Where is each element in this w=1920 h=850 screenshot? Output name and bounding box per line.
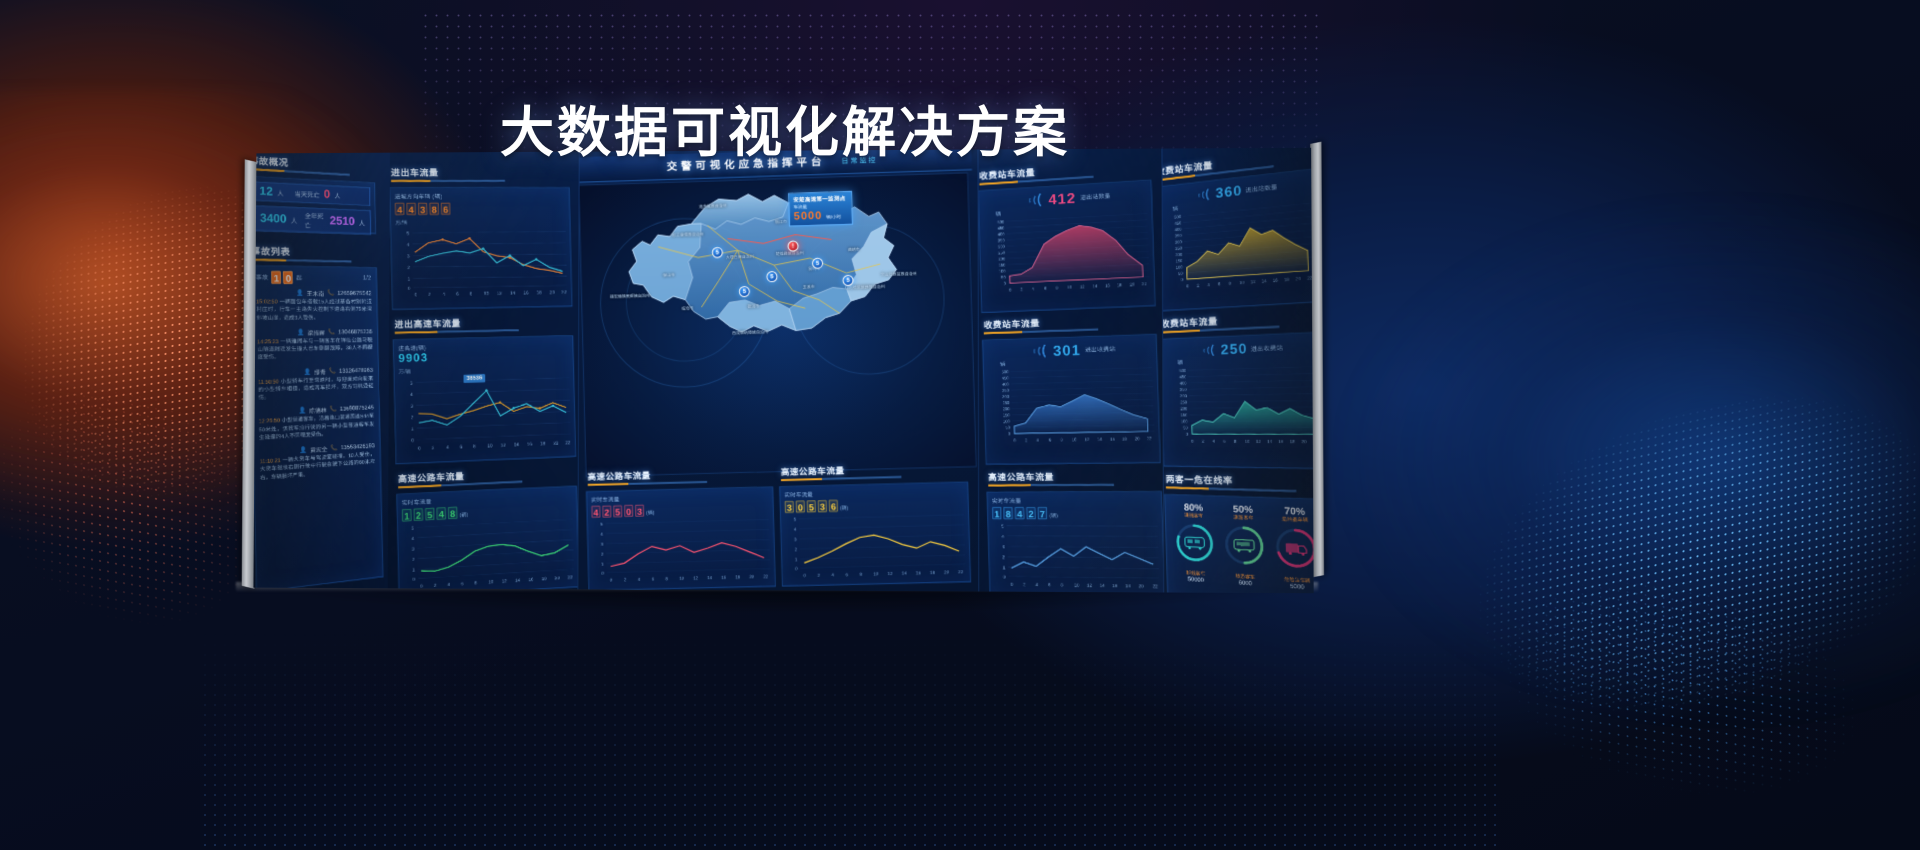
svg-text:2: 2 (1197, 283, 1200, 288)
svg-text:8: 8 (1056, 285, 1059, 290)
svg-text:16: 16 (1110, 436, 1116, 441)
accident-list-pager[interactable]: 1/2 (363, 275, 371, 281)
svg-text:6: 6 (456, 291, 459, 296)
svg-text:2: 2 (1002, 555, 1005, 560)
inout-y-unit: 万/辆 (395, 219, 407, 226)
highway-panel-3-title: 高速公路车流量 (781, 463, 902, 478)
svg-text:6: 6 (1223, 438, 1226, 443)
svg-text:50: 50 (1183, 425, 1189, 430)
svg-text:2: 2 (624, 577, 627, 582)
svg-text:4: 4 (1032, 286, 1035, 291)
svg-text:3: 3 (794, 537, 797, 542)
digit: 4 (436, 507, 446, 520)
highway-panel-4: 实时车流量 1 8 4 2 7 (辆) (987, 491, 1165, 594)
svg-text:20: 20 (1138, 583, 1144, 588)
inbound-label: 进城方向车辆 (辆) (395, 192, 565, 200)
svg-text:6: 6 (461, 581, 464, 586)
svg-text:0: 0 (418, 446, 421, 451)
toll-4-title-wrap: 收费站车流量 (1161, 311, 1280, 333)
accident-person-name: 梁振辉 (308, 328, 325, 337)
signal-wave-icon (1022, 343, 1050, 360)
accident-count-label: 事故 (256, 273, 269, 282)
svg-text:450: 450 (1174, 220, 1182, 226)
title-underline (391, 180, 505, 182)
digit: 4 (1015, 507, 1025, 519)
svg-text:20: 20 (749, 574, 755, 579)
svg-text:18: 18 (930, 570, 936, 575)
svg-text:3: 3 (1002, 544, 1005, 549)
svg-text:22: 22 (1142, 281, 1148, 286)
svg-text:450: 450 (997, 225, 1005, 230)
svg-text:20: 20 (1301, 439, 1307, 445)
bus-icon (1185, 537, 1204, 550)
svg-text:0: 0 (1181, 277, 1184, 282)
highway-panel-3-sub: 实时车流量 (784, 487, 963, 500)
svg-text:500: 500 (1179, 368, 1187, 373)
svg-text:20: 20 (555, 575, 560, 580)
year-death-unit: 人 (359, 217, 365, 227)
svg-text:16: 16 (1105, 283, 1111, 288)
map-tooltip-value: 5000 (794, 210, 823, 223)
title-underline (988, 484, 1114, 487)
svg-text:2: 2 (428, 292, 431, 297)
highway-inout-panel: 进高速(辆) 9903 万/辆 38536 (393, 335, 577, 464)
map-region-label: 普洱市 (747, 304, 759, 310)
svg-text:18: 18 (1117, 282, 1123, 287)
map-region-label: 文山壮族苗族自治州 (880, 271, 916, 278)
map-pin[interactable]: 5 (842, 275, 853, 286)
svg-text:16: 16 (1273, 277, 1279, 283)
svg-text:500: 500 (997, 219, 1005, 224)
svg-text:100: 100 (1181, 419, 1189, 424)
svg-text:2: 2 (1202, 438, 1205, 443)
svg-text:8: 8 (474, 580, 477, 585)
svg-text:50: 50 (1001, 274, 1006, 279)
highway-panel-3-unit: (辆) (840, 505, 849, 512)
wall-segment-right-inner: 收费站车流量 412 进出站数量 (978, 148, 1164, 594)
gauge-2-label: 旅游客车 (1218, 514, 1269, 523)
svg-text:300: 300 (1175, 239, 1183, 245)
inout-flow-panel: 进城方向车辆 (辆) 4 4 3 8 6 (389, 187, 572, 310)
svg-text:400: 400 (1175, 226, 1183, 232)
map-tooltip-unit: 辆/小时 (826, 214, 841, 220)
svg-text:150: 150 (1003, 412, 1011, 417)
wall-segment-left: 事故概况 12 人 当天死亡 0 人 (253, 148, 397, 594)
year-death-label: 全年死亡 (305, 211, 326, 231)
highway-panel-2-sub: 实时车流量 (591, 491, 768, 503)
svg-text:12: 12 (1087, 583, 1093, 588)
gauge-group-2: 50% 旅游客车 (1218, 503, 1271, 589)
svg-text:150: 150 (1176, 258, 1184, 264)
svg-text:300: 300 (1002, 394, 1010, 399)
accident-time: 11:50:50 (258, 378, 279, 385)
map-region-label: 保山市 (663, 272, 675, 278)
digit: 3 (818, 500, 827, 512)
svg-text:4: 4 (446, 445, 449, 450)
svg-text:350: 350 (1175, 233, 1183, 239)
svg-text:20: 20 (550, 290, 556, 295)
svg-text:0: 0 (1004, 281, 1007, 286)
svg-text:2: 2 (817, 573, 820, 578)
svg-text:1: 1 (411, 426, 414, 431)
svg-text:14: 14 (1097, 436, 1103, 441)
toll-3-value: 301 (1053, 341, 1081, 359)
svg-text:4: 4 (1002, 534, 1005, 539)
map-region-label: 德宏傣族景颇族自治州 (610, 293, 650, 300)
svg-text:8: 8 (1060, 437, 1063, 442)
digit: 2 (1026, 507, 1036, 519)
svg-text:350: 350 (1180, 387, 1188, 392)
svg-text:20: 20 (944, 570, 950, 575)
gauge-group-3: 70% 危险品车辆 (1268, 505, 1314, 593)
svg-text:8: 8 (665, 576, 668, 581)
toll-2-value: 360 (1215, 182, 1242, 201)
inout-flow-chart: 54 32 10 (395, 227, 569, 299)
svg-text:10: 10 (1239, 279, 1245, 285)
accident-person-name: 黄志全 (310, 445, 327, 455)
highway-panel-4-digits: 1 8 4 2 7 (辆) (992, 507, 1157, 520)
digit: 3 (785, 501, 794, 513)
inout-flow-title-wrap: 进出车流量 (391, 166, 505, 182)
gauge-1-ring (1173, 520, 1216, 565)
svg-text:10: 10 (489, 579, 495, 584)
svg-text:20: 20 (553, 440, 559, 445)
svg-text:2: 2 (601, 552, 604, 557)
svg-text:2: 2 (407, 265, 410, 270)
svg-text:2: 2 (1020, 287, 1023, 292)
signal-wave-icon (1189, 186, 1213, 203)
highway-panel-1-unit: (辆) (459, 511, 468, 519)
svg-text:4: 4 (447, 582, 450, 587)
svg-text:200: 200 (1180, 406, 1188, 411)
highway-panel-4-title: 高速公路车流量 (988, 470, 1114, 483)
svg-text:50: 50 (1178, 271, 1184, 277)
svg-text:22: 22 (1147, 436, 1153, 441)
svg-text:10: 10 (1067, 284, 1073, 289)
accident-body: 12:25:50 小型普通客车，沿着路口普通国道S44至50米处，该货车沿行驶的… (259, 413, 375, 442)
highway-panel-4-unit: (辆) (1049, 512, 1058, 519)
svg-text:14: 14 (1092, 283, 1098, 288)
svg-text:200: 200 (998, 256, 1006, 261)
svg-text:6: 6 (846, 572, 849, 577)
svg-text:0: 0 (412, 577, 415, 582)
stat-row-today: 12 人 当天死亡 0 人 (253, 181, 370, 206)
svg-text:250: 250 (1003, 400, 1011, 405)
svg-text:12: 12 (1256, 439, 1262, 444)
svg-text:0: 0 (411, 438, 414, 443)
accident-body: 11:50:50 小型轿车行至弯道时，与迎面对向驶来的小型轿车相撞，造成两车损坏… (258, 375, 374, 402)
accident-count-digits: 1 0 (271, 271, 293, 284)
svg-text:5: 5 (1001, 524, 1004, 529)
accident-contact: 👤 王木南 📞 12659675542 (256, 289, 371, 298)
tour-bus-icon (1234, 539, 1254, 552)
svg-text:0: 0 (1008, 431, 1011, 436)
gauge-1-count: 50000 (1172, 575, 1221, 585)
inout-flow-title: 进出车流量 (391, 166, 505, 179)
svg-text:10: 10 (1074, 582, 1080, 587)
digit: 3 (418, 203, 428, 215)
digit: 4 (395, 203, 405, 216)
svg-text:5: 5 (410, 380, 413, 385)
svg-text:250: 250 (998, 250, 1006, 255)
svg-text:10: 10 (874, 571, 880, 576)
svg-text:100: 100 (1003, 419, 1011, 424)
svg-text:4: 4 (1036, 437, 1039, 442)
person-icon: 👤 (296, 290, 303, 296)
toll-station-panel-2: 360 进出站数量 辆 (1155, 168, 1314, 311)
svg-text:22: 22 (562, 290, 568, 295)
accident-phone: 13553426193 (341, 443, 375, 451)
wall-segment-left-inner: 进出车流量 进城方向车辆 (辆) 4 4 3 (388, 148, 580, 594)
svg-text:4: 4 (410, 392, 413, 397)
svg-text:0: 0 (601, 571, 604, 576)
person-icon: 👤 (299, 408, 306, 415)
signal-wave-icon (1194, 342, 1218, 358)
highway-panel-2-chart: 543 210 024 6810 121416 182022 (592, 515, 773, 583)
digit: 1 (992, 507, 1002, 519)
accident-list-title-wrap: 事故列表 (253, 244, 351, 262)
digit: 2 (413, 508, 423, 521)
wall-segment-center: 交警可视化应急指挥平台 日常监控 (578, 150, 979, 592)
svg-text:12: 12 (497, 291, 503, 296)
list-item[interactable]: 👤 陈德林 📞 13690875245 12:25:50 小型普通客车，沿着路口… (259, 404, 375, 443)
svg-text:18: 18 (1125, 583, 1131, 588)
list-item[interactable]: 👤 黄志全 📞 13553426193 11:10:21 一辆大货车与驾驶室碰撞… (259, 442, 375, 483)
svg-text:12: 12 (1080, 284, 1086, 289)
svg-text:4: 4 (1207, 282, 1210, 287)
digit: 4 (591, 506, 600, 518)
svg-text:20: 20 (1130, 282, 1136, 287)
svg-text:4: 4 (1212, 438, 1215, 443)
today-injured-value: 12 (259, 185, 273, 199)
list-item[interactable]: 👤 梁振辉 📞 13046875236 14:25:23 一辆雅阁车与一辆客车在… (257, 328, 373, 363)
highway-panel-4-title-wrap: 高速公路车流量 (988, 470, 1114, 486)
svg-text:4: 4 (638, 577, 641, 582)
svg-text:1: 1 (408, 276, 411, 281)
digit: 4 (406, 203, 416, 215)
accident-count-unit: 起 (296, 273, 302, 282)
svg-text:14: 14 (510, 290, 516, 295)
svg-text:5: 5 (406, 231, 409, 236)
highway-tooltip: 38536 (463, 374, 485, 383)
digit: 1 (271, 271, 281, 284)
svg-text:12: 12 (502, 578, 508, 583)
map-tooltip: 安楚高速第一监测点 车流量 5000 辆/小时 (788, 191, 853, 227)
svg-text:14: 14 (1262, 278, 1268, 284)
svg-text:450: 450 (1179, 374, 1187, 379)
svg-text:10: 10 (487, 443, 493, 448)
online-rate-panel: 80% 班线客车 (1164, 494, 1314, 594)
svg-text:3: 3 (601, 542, 604, 547)
svg-text:5: 5 (411, 525, 414, 530)
digit: 5 (807, 500, 816, 512)
phone-icon: 📞 (328, 329, 335, 335)
highway-panel-2-title-wrap: 高速公路车流量 (587, 468, 707, 486)
gauge-1-pct: 80% (1169, 501, 1218, 513)
map-region-label: 西双版纳傣族自治州 (732, 329, 768, 336)
toll-2-chart: 500450400 350300250 200150100 500 024 68… (1160, 199, 1313, 294)
list-item[interactable]: 👤 王木南 📞 12659675542 15:02:50 一辆面包车搭载15人经… (256, 289, 372, 322)
svg-text:8: 8 (1229, 280, 1232, 286)
accident-list-title: 事故列表 (253, 244, 351, 259)
svg-text:10: 10 (484, 291, 490, 296)
toll-1-value: 412 (1048, 189, 1076, 207)
map-container[interactable]: 迪庆藏族自治州 怒江傈僳族自治州 丽江市 昭通市 大理白族自治州 保山市 楚雄彝… (578, 172, 976, 477)
gauge-2-ring (1222, 523, 1267, 569)
digit: 0 (283, 271, 293, 284)
svg-text:16: 16 (1278, 439, 1284, 444)
svg-text:200: 200 (1175, 252, 1183, 258)
accident-body: 15:02:50 一辆面包车搭载15人经过基备村别附近村庄时，行车一主路失火控制… (256, 299, 372, 323)
svg-text:400: 400 (1002, 381, 1010, 386)
digit: 0 (796, 501, 805, 513)
digit: 5 (425, 508, 435, 521)
wall-segment-right: 南山 ☁ 2018-0 收费站车流量 (1155, 148, 1314, 594)
svg-text:14: 14 (707, 575, 713, 580)
toll-4-value-label: 进出收费站 (1251, 343, 1283, 353)
svg-text:3: 3 (407, 254, 410, 259)
phone-icon: 📞 (330, 407, 337, 414)
svg-text:18: 18 (537, 290, 543, 295)
list-item[interactable]: 👤 缪青 📞 13126478963 11:50:50 小型轿车行至弯道时，与迎… (258, 366, 374, 403)
highway-panel-3-title-wrap: 高速公路车流量 (781, 463, 902, 481)
highway-inout-chart: 543 210 024 6810 (399, 372, 573, 454)
accident-person-name: 陈德林 (309, 406, 326, 415)
highway-panel-4-chart: 543 210 024 6810 121416 182022 (992, 521, 1161, 590)
svg-text:1: 1 (412, 567, 415, 572)
map-region-label: 玉溪市 (803, 284, 815, 290)
accident-list-panel[interactable]: 事故 1 0 起 1/2 👤 (253, 265, 383, 593)
digit: 7 (1037, 507, 1047, 520)
svg-text:22: 22 (1152, 584, 1158, 589)
svg-text:14: 14 (515, 578, 521, 583)
digit: 6 (829, 500, 838, 512)
phone-icon: 📞 (329, 368, 336, 375)
person-icon: 👤 (304, 369, 311, 376)
svg-text:3: 3 (410, 403, 413, 408)
svg-text:300: 300 (998, 244, 1006, 249)
svg-text:12: 12 (693, 575, 699, 580)
svg-text:18: 18 (542, 576, 547, 581)
svg-text:16: 16 (523, 290, 529, 295)
svg-text:10: 10 (1072, 437, 1078, 442)
map-region-label: 曲靖市 (848, 247, 860, 253)
map-tooltip-title: 安楚高速第一监测点 (793, 194, 847, 204)
highway-panel-3-chart: 543 210 024 6810 121416 182022 (785, 511, 968, 580)
svg-text:8: 8 (469, 291, 472, 296)
svg-text:2: 2 (794, 547, 797, 552)
hazmat-truck-icon (1285, 543, 1306, 556)
svg-text:16: 16 (527, 441, 533, 446)
highway-y-unit: 万/辆 (399, 368, 411, 376)
title-underline (781, 476, 901, 481)
online-rate-title-wrap: 两客一危在线率 (1165, 473, 1296, 492)
inbound-digits: 4 4 3 8 6 (395, 202, 566, 215)
svg-text:0: 0 (1011, 582, 1014, 587)
today-injured-unit: 人 (277, 187, 284, 197)
svg-text:400: 400 (1179, 380, 1187, 385)
digit: 3 (635, 505, 644, 517)
svg-text:8: 8 (1234, 438, 1237, 443)
svg-text:4: 4 (443, 292, 446, 297)
highway-panel-1-chart: 543 210 024 6810 121416 182022 (402, 515, 576, 591)
svg-text:22: 22 (958, 569, 964, 574)
svg-text:14: 14 (514, 442, 520, 447)
svg-text:0: 0 (1014, 438, 1017, 443)
svg-text:150: 150 (1180, 412, 1188, 417)
toll-3-chart: 500450400 350300250 200150100 500 024 68… (988, 363, 1157, 446)
digit: 8 (1003, 507, 1013, 519)
highway-panel-2-digits: 4 2 5 0 3 (辆) (591, 501, 769, 517)
svg-text:200: 200 (1003, 406, 1011, 411)
accident-time: 14:25:23 (257, 339, 278, 346)
svg-text:5: 5 (794, 517, 797, 522)
svg-text:14: 14 (1100, 583, 1106, 588)
svg-text:6: 6 (1049, 437, 1052, 442)
svg-text:6: 6 (1044, 286, 1047, 291)
toll-3-value-label: 进出收费站 (1085, 345, 1116, 354)
svg-text:8: 8 (473, 444, 476, 449)
map-region-label: 红河哈尼族彝族自治州 (845, 284, 885, 291)
toll-1-value-label: 进出站数量 (1080, 191, 1111, 201)
svg-text:10: 10 (679, 576, 684, 581)
accident-contact: 👤 梁振辉 📞 13046875236 (257, 328, 372, 338)
map-region-label: 楚雄彝族自治州 (776, 250, 804, 257)
digit: 2 (602, 505, 611, 517)
digit: 8 (429, 203, 439, 215)
highway-panel-1: 实时车流量 1 2 5 4 8 (辆) (396, 485, 579, 593)
svg-text:4: 4 (794, 527, 797, 532)
province-map[interactable] (579, 177, 975, 366)
toll-4-chart: 500450400 350300250 200150100 500 024 68… (1165, 362, 1314, 448)
svg-text:150: 150 (998, 262, 1006, 267)
svg-text:1: 1 (601, 562, 604, 567)
svg-text:0: 0 (414, 292, 417, 297)
svg-text:18: 18 (1284, 276, 1290, 282)
highway-panel-2-unit: (辆) (646, 509, 654, 516)
svg-text:6: 6 (460, 444, 463, 449)
svg-text:16: 16 (1112, 583, 1118, 588)
svg-text:4: 4 (412, 536, 415, 541)
svg-text:2: 2 (1025, 437, 1028, 442)
svg-text:4: 4 (832, 572, 835, 577)
svg-text:0: 0 (1191, 438, 1194, 443)
svg-text:20: 20 (1296, 276, 1302, 282)
toll-station-panel-3: 301 进出收费站 辆 (982, 334, 1161, 465)
signal-wave-icon (1017, 191, 1044, 209)
svg-text:0: 0 (610, 577, 613, 582)
svg-text:1: 1 (795, 557, 798, 562)
highway-panel-1-title-wrap: 高速公路车流量 (398, 467, 523, 488)
accident-phone: 13126478963 (339, 367, 373, 374)
toll-2-value-label: 进出站数量 (1245, 182, 1277, 194)
accident-phone: 13046875236 (338, 329, 372, 336)
svg-text:4: 4 (407, 242, 410, 247)
map-region-label: 丽江市 (775, 219, 787, 225)
svg-text:250: 250 (1180, 400, 1188, 405)
accident-person-name: 王木南 (307, 289, 324, 298)
svg-text:4: 4 (1035, 582, 1038, 587)
svg-text:3: 3 (412, 546, 415, 551)
svg-text:0: 0 (1003, 574, 1006, 579)
accident-overview-panel: 12 人 当天死亡 0 人 3400 人 全年死亡 2510 (253, 176, 376, 235)
map-region-label: 怒江傈僳族自治州 (672, 232, 704, 239)
svg-text:500: 500 (1174, 214, 1182, 220)
phone-icon: 📞 (330, 445, 337, 452)
toll-station-panel-4: 250 进出收费站 辆 (1159, 332, 1314, 470)
svg-text:18: 18 (540, 441, 546, 446)
accident-time: 12:25:50 (259, 418, 280, 426)
